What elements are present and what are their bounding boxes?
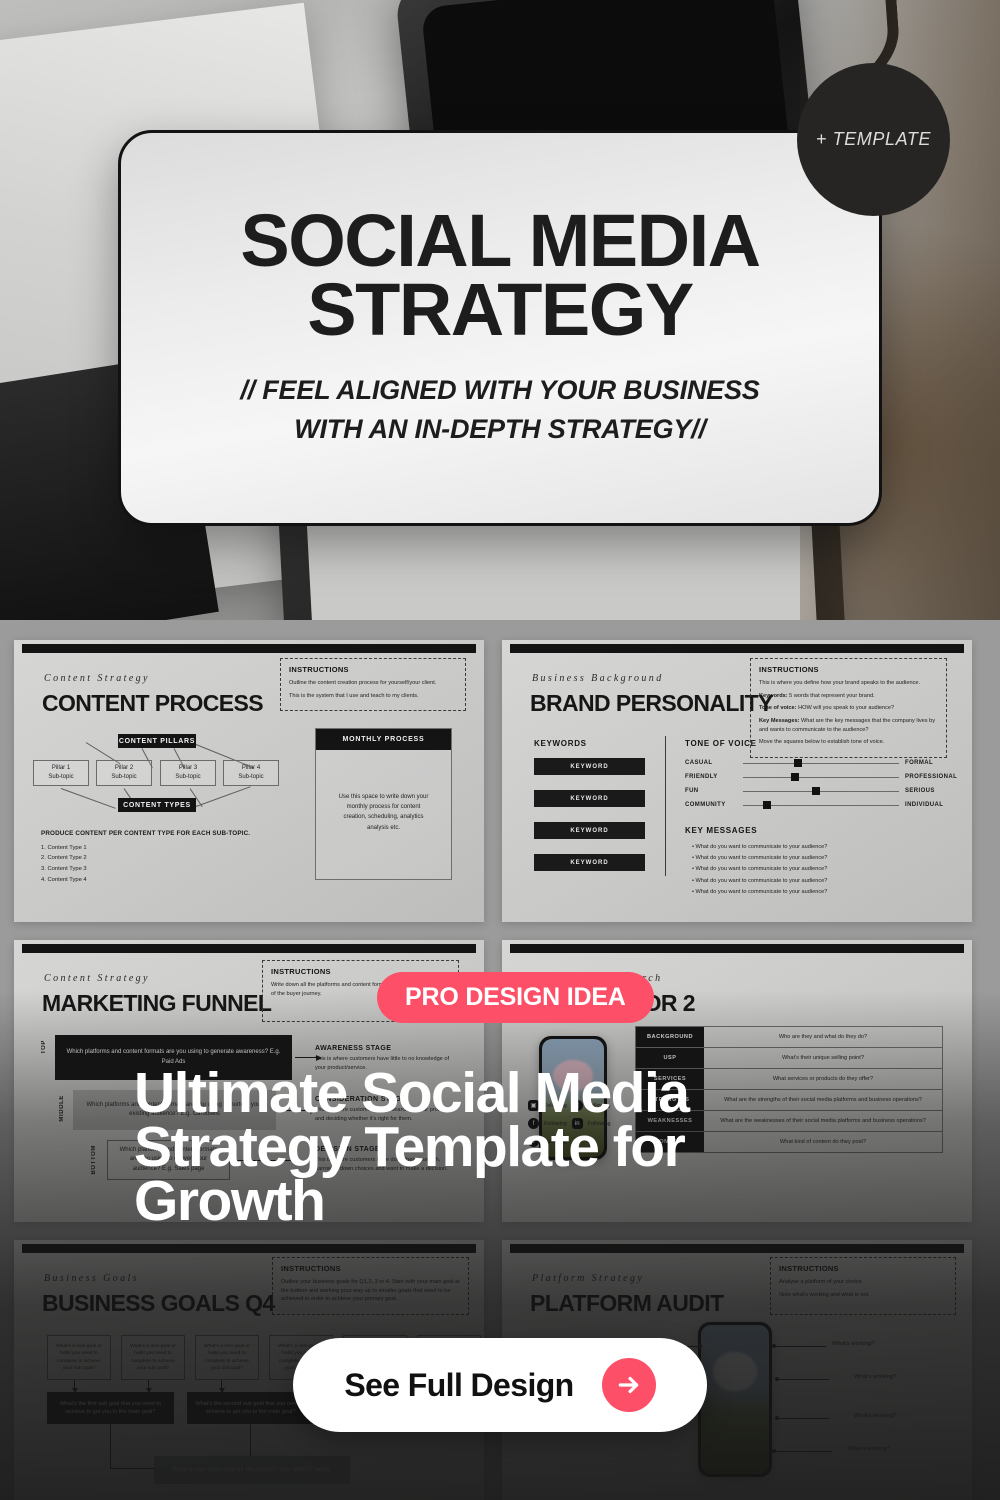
instructions-line: Note what's working and what is not.: [779, 1291, 947, 1300]
instructions-line: Outline the content creation process for…: [289, 679, 457, 688]
instructions-heading: INSTRUCTIONS: [289, 665, 457, 674]
hero-title-line-1: SOCIAL MEDIA: [240, 207, 759, 276]
keyword-field[interactable]: KEYWORD: [534, 758, 645, 775]
slide-title: CONTENT PROCESS: [42, 690, 263, 717]
tone-track[interactable]: [743, 763, 899, 764]
monthly-process-body: Use this space to write down your monthl…: [316, 750, 451, 875]
keyword-field[interactable]: KEYWORD: [534, 790, 645, 807]
instructions-heading: INSTRUCTIONS: [281, 1264, 460, 1273]
audit-right-label: What's working?: [854, 1413, 896, 1419]
slide-title: MARKETING FUNNEL: [42, 990, 271, 1017]
sub-goal-box: What's the first sub goal that you need …: [47, 1392, 174, 1424]
hero-title: SOCIAL MEDIA STRATEGY: [240, 207, 759, 345]
tone-left-label: CASUAL: [685, 760, 737, 766]
key-message-item: • What do you want to communicate to you…: [692, 864, 827, 875]
audit-right-label: What's working?: [848, 1446, 890, 1452]
slide-top-bar: [510, 644, 964, 653]
pillar-box: Pillar 3Sub-topic: [160, 760, 216, 786]
instructions-intro: This is where you define how your brand …: [759, 679, 938, 688]
instructions-item: Key Messages: What are the key messages …: [759, 717, 938, 734]
slide-eyebrow: Business Background: [532, 673, 664, 684]
tone-left-label: COMMUNITY: [685, 802, 737, 808]
produce-item: 2. Content Type 2: [41, 853, 250, 864]
flow-arrow: [148, 1380, 149, 1392]
cta-label: See Full Design: [344, 1367, 573, 1404]
mini-goal-box: What's a mini-goal or habit you need to …: [47, 1335, 111, 1380]
hero-section: + TEMPLATE SOCIAL MEDIA STRATEGY // FEEL…: [0, 0, 1000, 620]
tone-slider-row[interactable]: CASUAL FORMAL: [685, 760, 961, 766]
slide-title: BRAND PERSONALITY: [530, 690, 773, 717]
phone-screen: [701, 1325, 769, 1474]
mini-goal-box: What's a mini-goal or habit you need to …: [121, 1335, 185, 1380]
flow-arrow: [74, 1380, 75, 1392]
tone-right-label: INDIVIDUAL: [905, 802, 961, 808]
instructions-line: Analyse a platform of your choice.: [779, 1278, 947, 1287]
instructions-line: Outline your business goals for Q1,2, 3 …: [281, 1278, 460, 1304]
key-message-item: • What do you want to communicate to you…: [692, 887, 827, 898]
produce-heading: PRODUCE CONTENT PER CONTENT TYPE FOR EAC…: [41, 828, 250, 840]
instructions-line: This is the system that I use and teach …: [289, 692, 457, 701]
slide-top-bar: [22, 1244, 476, 1253]
tone-knob[interactable]: [794, 759, 802, 767]
connector-line: [61, 788, 116, 809]
tone-right-label: PROFESSIONAL: [905, 774, 961, 780]
stage-heading: AWARENESS STAGE: [315, 1045, 455, 1052]
instructions-box: INSTRUCTIONS Analyse a platform of your …: [770, 1257, 956, 1315]
instructions-box: INSTRUCTIONS Outline your business goals…: [272, 1257, 469, 1315]
flow-arrow: [221, 1380, 222, 1392]
template-badge: + TEMPLATE: [797, 63, 950, 216]
pillar-box: Pillar 4Sub-topic: [223, 760, 279, 786]
key-messages-heading: KEY MESSAGES: [685, 826, 757, 835]
instructions-item: Keywords: 5 words that represent your br…: [759, 692, 938, 701]
mini-goal-box: What's a mini-goal or habit you need to …: [195, 1335, 259, 1380]
hero-title-line-2: STRATEGY: [240, 276, 759, 345]
key-message-item: • What do you want to communicate to you…: [692, 876, 827, 887]
content-pillars-label: CONTENT PILLARS: [118, 734, 196, 748]
key-message-item: • What do you want to communicate to you…: [692, 842, 827, 853]
slide-top-bar: [510, 944, 964, 953]
tone-slider-row[interactable]: COMMUNITY INDIVIDUAL: [685, 802, 961, 808]
see-full-design-button[interactable]: See Full Design: [293, 1338, 707, 1432]
audit-right-label: What's working?: [854, 1374, 896, 1380]
monthly-process-card: MONTHLY PROCESS Use this space to write …: [315, 728, 452, 880]
key-messages-list: • What do you want to communicate to you…: [692, 842, 827, 898]
tone-right-label: SERIOUS: [905, 788, 961, 794]
connector-line: [196, 786, 251, 807]
phone-mockup: [698, 1322, 772, 1477]
slide-title: PLATFORM AUDIT: [530, 1290, 723, 1317]
funnel-level-label: TOP: [41, 1040, 47, 1054]
main-goal-box: What is your main goal for this period? …: [154, 1456, 350, 1484]
template-badge-label: + TEMPLATE: [816, 129, 931, 150]
audit-connector: [777, 1379, 829, 1380]
table-row-label: BACKGROUND: [636, 1027, 704, 1047]
slide-title: BUSINESS GOALS Q4: [42, 1290, 275, 1317]
tone-knob[interactable]: [812, 787, 820, 795]
tone-left-label: FRIENDLY: [685, 774, 737, 780]
table-row: BACKGROUND Who are they and what do they…: [636, 1027, 942, 1048]
slide-top-bar: [22, 644, 476, 653]
keywords-heading: KEYWORDS: [534, 739, 587, 748]
tone-slider-row[interactable]: FUN SERIOUS: [685, 788, 961, 794]
slide-top-bar: [510, 1244, 964, 1253]
tone-track[interactable]: [743, 805, 899, 806]
flow-line: [110, 1424, 111, 1468]
pro-design-idea-badge: PRO DESIGN IDEA: [377, 972, 654, 1023]
produce-item: 4. Content Type 4: [41, 875, 250, 886]
tone-slider-row[interactable]: FRIENDLY PROFESSIONAL: [685, 774, 961, 780]
monthly-process-heading: MONTHLY PROCESS: [316, 729, 451, 750]
slide-brand-personality[interactable]: Business Background BRAND PERSONALITY IN…: [502, 640, 972, 922]
table-row-question: What's their unique selling point?: [704, 1048, 942, 1068]
pillar-box: Pillar 1Sub-topic: [33, 760, 89, 786]
tone-track[interactable]: [743, 777, 899, 778]
keyword-field[interactable]: KEYWORD: [534, 854, 645, 871]
tone-knob[interactable]: [763, 801, 771, 809]
hero-subtitle: // FEEL ALIGNED WITH YOUR BUSINESS WITH …: [240, 371, 759, 449]
slide-eyebrow: Business Goals: [44, 1273, 139, 1284]
hero-subtitle-line-2: WITH AN IN-DEPTH STRATEGY//: [240, 410, 759, 449]
instructions-box: INSTRUCTIONS Outline the content creatio…: [280, 658, 466, 711]
instructions-heading: INSTRUCTIONS: [759, 665, 938, 674]
funnel-level-label: MIDDLE: [59, 1095, 65, 1122]
audit-right-label: What's working?: [832, 1341, 874, 1347]
key-message-item: • What do you want to communicate to you…: [692, 853, 827, 864]
slide-eyebrow: Content Strategy: [44, 673, 150, 684]
slide-eyebrow: Content Strategy: [44, 973, 150, 984]
arrow-right-icon: [602, 1358, 656, 1412]
table-row-question: Who are they and what do they do?: [704, 1027, 942, 1047]
tone-track[interactable]: [743, 791, 899, 792]
overlay-headline: Ultimate Social Media Strategy Template …: [134, 1066, 874, 1228]
instructions-box: INSTRUCTIONS This is where you define ho…: [750, 658, 947, 758]
tone-knob[interactable]: [791, 773, 799, 781]
keyword-field[interactable]: KEYWORD: [534, 822, 645, 839]
slide-eyebrow: Platform Strategy: [532, 1273, 644, 1284]
flow-line: [110, 1468, 154, 1469]
audit-connector: [777, 1418, 829, 1419]
funnel-level-label: BOTTOM: [91, 1145, 97, 1175]
slide-content-process[interactable]: Content Strategy CONTENT PROCESS INSTRUC…: [14, 640, 484, 922]
cloud-graphic: [713, 1352, 757, 1391]
hero-subtitle-line-1: // FEEL ALIGNED WITH YOUR BUSINESS: [240, 371, 759, 410]
instructions-item: Tone of voice: HOW will you speak to you…: [759, 704, 938, 713]
tone-right-label: FORMAL: [905, 760, 961, 766]
section-divider: [665, 736, 666, 876]
slide-top-bar: [22, 944, 476, 953]
tone-left-label: FUN: [685, 788, 737, 794]
instructions-heading: INSTRUCTIONS: [779, 1264, 947, 1273]
produce-list: PRODUCE CONTENT PER CONTENT TYPE FOR EAC…: [41, 828, 250, 886]
produce-item: 3. Content Type 3: [41, 864, 250, 875]
produce-item: 1. Content Type 1: [41, 843, 250, 854]
tone-of-voice-heading: TONE OF VOICE: [685, 739, 757, 748]
instructions-footer: Move the squares below to establish tone…: [759, 738, 938, 747]
pillar-box: Pillar 2Sub-topic: [96, 760, 152, 786]
audit-connector: [774, 1346, 826, 1347]
hero-title-card: SOCIAL MEDIA STRATEGY // FEEL ALIGNED WI…: [118, 130, 882, 526]
content-types-label: CONTENT TYPES: [118, 798, 196, 812]
audit-connector: [774, 1451, 832, 1452]
flow-line: [250, 1424, 251, 1458]
